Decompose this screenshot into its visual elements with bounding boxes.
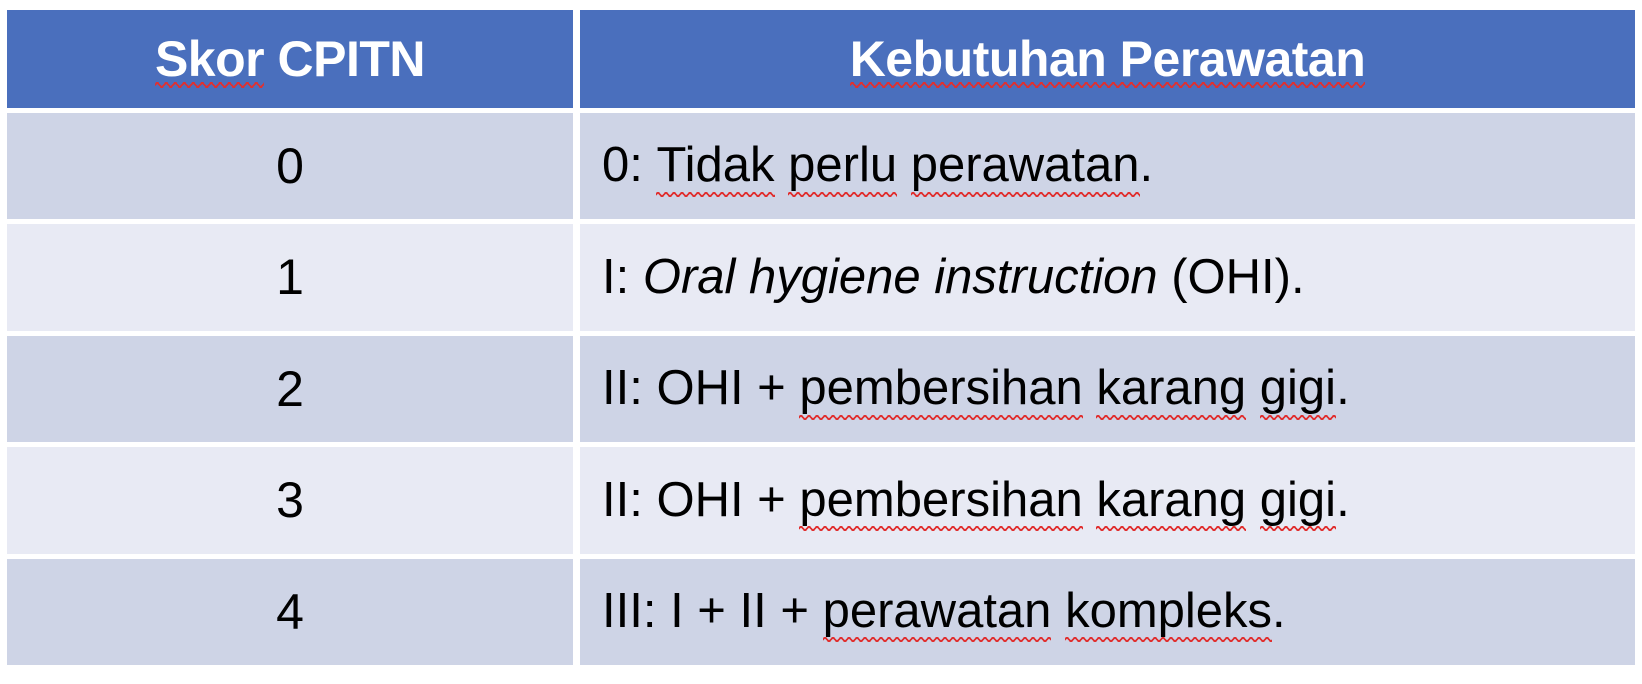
column-header-cpitn-word: CPITN bbox=[264, 31, 425, 87]
misspelled-word: pembersihan bbox=[799, 475, 1082, 526]
cell-score: 1 bbox=[7, 224, 573, 330]
treatment-text: . bbox=[1140, 138, 1154, 192]
treatment-prefix: III: I + II + bbox=[602, 584, 823, 638]
column-header-kebutuhan-perawatan: Kebutuhan Perawatan bbox=[580, 10, 1635, 108]
cell-treatment: II: OHI + pembersihan karang gigi. bbox=[580, 336, 1635, 442]
table-row: 1I: Oral hygiene instruction (OHI). bbox=[7, 224, 1635, 330]
treatment-prefix: I: bbox=[602, 250, 643, 304]
table-body: 00: Tidak perlu perawatan.1I: Oral hygie… bbox=[7, 113, 1635, 665]
treatment-prefix: II: OHI + bbox=[602, 473, 799, 527]
cell-treatment: II: OHI + pembersihan karang gigi. bbox=[580, 447, 1635, 553]
treatment-text: (OHI). bbox=[1158, 250, 1305, 304]
cell-treatment: III: I + II + perawatan kompleks. bbox=[580, 559, 1635, 665]
table-row: 4III: I + II + perawatan kompleks. bbox=[7, 559, 1635, 665]
treatment-text: Oral hygiene instruction bbox=[643, 250, 1158, 304]
table-row: 2II: OHI + pembersihan karang gigi. bbox=[7, 336, 1635, 442]
cell-treatment: I: Oral hygiene instruction (OHI). bbox=[580, 224, 1635, 330]
treatment-text: . bbox=[1272, 584, 1286, 638]
misspelled-word: perawatan bbox=[911, 140, 1140, 191]
column-header-kebutuhan-perawatan-text: Kebutuhan Perawatan bbox=[850, 34, 1366, 85]
misspelled-word: gigi bbox=[1260, 363, 1336, 414]
treatment-text bbox=[1083, 361, 1097, 415]
table-row: 00: Tidak perlu perawatan. bbox=[7, 113, 1635, 219]
treatment-text bbox=[897, 138, 911, 192]
cell-score: 0 bbox=[7, 113, 573, 219]
cpitn-table-container: Skor CPITN Kebutuhan Perawatan 00: Tidak… bbox=[0, 0, 1642, 684]
misspelled-word: karang bbox=[1096, 363, 1246, 414]
treatment-text bbox=[775, 138, 789, 192]
misspelled-word: Tidak bbox=[656, 140, 774, 191]
table-header: Skor CPITN Kebutuhan Perawatan bbox=[7, 10, 1635, 108]
treatment-prefix: II: OHI + bbox=[602, 361, 799, 415]
misspelled-word: perawatan bbox=[823, 586, 1052, 637]
cell-score: 3 bbox=[7, 447, 573, 553]
cell-treatment: 0: Tidak perlu perawatan. bbox=[580, 113, 1635, 219]
misspelled-word: perlu bbox=[788, 140, 897, 191]
misspelled-word: gigi bbox=[1260, 475, 1336, 526]
column-header-skor-word: Skor bbox=[155, 34, 264, 85]
misspelled-word: karang bbox=[1096, 475, 1246, 526]
treatment-prefix: 0: bbox=[602, 138, 656, 192]
misspelled-word: kompleks bbox=[1065, 586, 1272, 637]
treatment-text bbox=[1083, 473, 1097, 527]
cell-score: 2 bbox=[7, 336, 573, 442]
cpitn-treatment-table: Skor CPITN Kebutuhan Perawatan 00: Tidak… bbox=[0, 5, 1642, 670]
treatment-text: . bbox=[1336, 473, 1350, 527]
misspelled-word: pembersihan bbox=[799, 363, 1082, 414]
column-header-skor-cpitn: Skor CPITN bbox=[7, 10, 573, 108]
treatment-text bbox=[1051, 584, 1065, 638]
treatment-text: . bbox=[1336, 361, 1350, 415]
table-header-row: Skor CPITN Kebutuhan Perawatan bbox=[7, 10, 1635, 108]
treatment-text bbox=[1246, 361, 1260, 415]
table-row: 3II: OHI + pembersihan karang gigi. bbox=[7, 447, 1635, 553]
cell-score: 4 bbox=[7, 559, 573, 665]
treatment-text bbox=[1246, 473, 1260, 527]
